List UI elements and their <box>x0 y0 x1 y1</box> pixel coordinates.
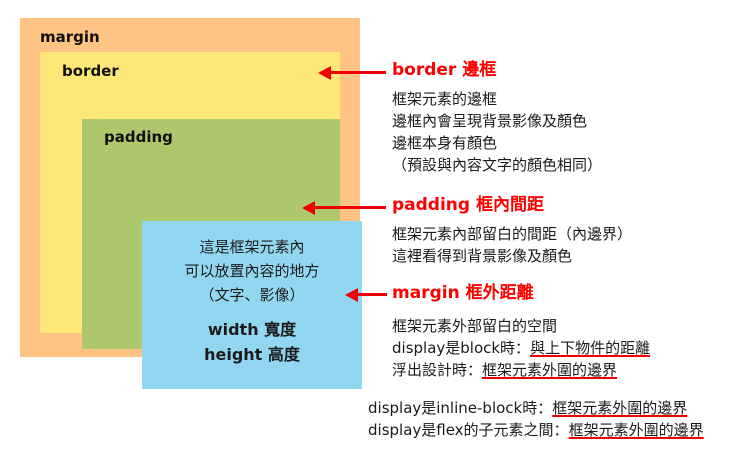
margin-note-plain: display是inline-block時： <box>368 399 552 417</box>
margin-note-line: display是flex的子元素之間：框架元素外圍的邊界 <box>368 419 704 441</box>
content-layer: 這是框架元素內 可以放置內容的地方 （文字、影像） width 寬度 heigh… <box>142 221 362 389</box>
padding-note-title: padding 框內間距 <box>392 197 544 214</box>
content-text-line: （文字、影像） <box>199 283 304 307</box>
border-note-line: 邊框本身有顏色 <box>392 132 602 154</box>
margin-note-underlined: 與上下物件的距離 <box>530 339 650 357</box>
arrow-to-border-icon <box>330 71 386 74</box>
margin-layer-label: margin <box>40 30 100 45</box>
margin-note-plain: display是block時： <box>392 339 530 357</box>
border-note-title: border 邊框 <box>392 62 496 79</box>
padding-layer-label: padding <box>104 130 173 145</box>
margin-note-line: display是block時：與上下物件的距離 <box>392 337 650 359</box>
margin-note-line: 框架元素外部留白的空間 <box>392 315 650 337</box>
border-note-line: 框架元素的邊框 <box>392 88 602 110</box>
margin-layer: margin border padding 這是框架元素內 可以放置內容的地方 … <box>20 18 360 357</box>
margin-note-plain: display是flex的子元素之間： <box>368 421 569 439</box>
border-note-line: （預設與內容文字的顏色相同） <box>392 154 602 176</box>
margin-note-body-secondary: display是inline-block時：框架元素外圍的邊界 display是… <box>368 397 704 441</box>
border-note-line: 邊框內會呈現背景影像及顏色 <box>392 110 602 132</box>
arrow-to-padding-icon <box>314 206 386 209</box>
content-height-label: height 高度 <box>204 342 300 367</box>
margin-note-underlined: 框架元素外圍的邊界 <box>569 421 704 439</box>
border-layer: border padding 這是框架元素內 可以放置內容的地方 （文字、影像）… <box>40 52 340 333</box>
padding-note-body: 框架元素內部留白的間距（內邊界） 這裡看得到背景影像及顏色 <box>392 223 632 267</box>
margin-note-plain: 浮出設計時： <box>392 361 482 379</box>
padding-note-line: 這裡看得到背景影像及顏色 <box>392 245 632 267</box>
content-text-line: 這是框架元素內 <box>199 235 304 259</box>
border-note-body: 框架元素的邊框 邊框內會呈現背景影像及顏色 邊框本身有顏色 （預設與內容文字的顏… <box>392 88 602 176</box>
content-width-label: width 寬度 <box>208 317 296 342</box>
margin-note-underlined: 框架元素外圍的邊界 <box>552 399 687 417</box>
padding-note-line: 框架元素內部留白的間距（內邊界） <box>392 223 632 245</box>
arrow-to-margin-icon <box>357 293 387 296</box>
content-text-line: 可以放置內容的地方 <box>184 259 319 283</box>
margin-note-body: 框架元素外部留白的空間 display是block時：與上下物件的距離 浮出設計… <box>392 315 650 381</box>
box-model-diagram: margin border padding 這是框架元素內 可以放置內容的地方 … <box>20 18 360 357</box>
margin-note-line: display是inline-block時：框架元素外圍的邊界 <box>368 397 704 419</box>
border-layer-label: border <box>62 64 119 79</box>
margin-note-title: margin 框外距離 <box>392 285 534 302</box>
margin-note-underlined: 框架元素外圍的邊界 <box>482 361 617 379</box>
margin-note-line: 浮出設計時：框架元素外圍的邊界 <box>392 359 650 381</box>
margin-note-plain: 框架元素外部留白的空間 <box>392 317 557 335</box>
padding-layer: padding 這是框架元素內 可以放置內容的地方 （文字、影像） width … <box>82 119 340 349</box>
